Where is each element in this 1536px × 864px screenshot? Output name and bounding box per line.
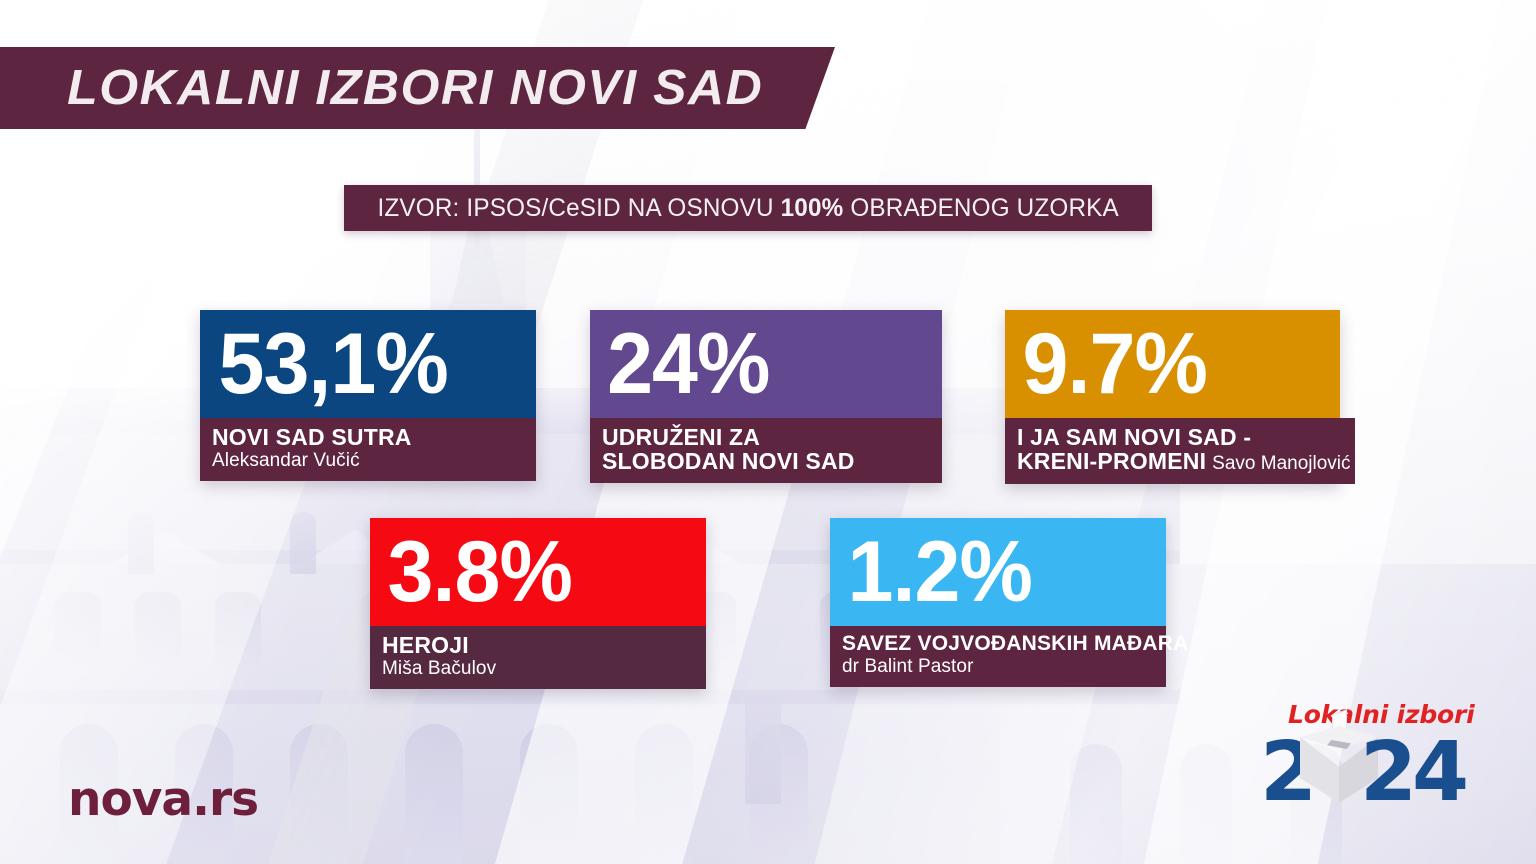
- percent-value: 1.2%: [834, 529, 1032, 615]
- party-name-line2: KRENI-PROMENISavo Manojlović: [1017, 449, 1343, 474]
- percent-value: 9.7%: [1009, 321, 1207, 407]
- percent-panel: 53,1%: [200, 310, 536, 418]
- result-card[interactable]: 53,1% NOVI SAD SUTRA Aleksandar Vučić: [200, 310, 536, 481]
- party-label-bar: SAVEZ VOJVOĐANSKIH MAĐARA dr Balint Past…: [830, 626, 1166, 687]
- percent-panel: 9.7%: [1005, 310, 1340, 418]
- candidate-name: Aleksandar Vučić: [212, 450, 524, 472]
- percent-panel: 24%: [590, 310, 942, 418]
- party-label-bar: UDRUŽENI ZA SLOBODAN NOVI SAD: [590, 418, 942, 483]
- percent-panel: 1.2%: [830, 518, 1166, 626]
- party-name-line1: UDRUŽENI ZA: [602, 425, 930, 449]
- party-name: HEROJI: [382, 633, 694, 657]
- source-prefix: IZVOR: IPSOS/CeSID NA OSNOVU: [377, 194, 780, 222]
- election-2024-logo[interactable]: Lokalni izbori 2 2 4: [1262, 700, 1482, 810]
- party-name: SAVEZ VOJVOĐANSKIH MAĐARA: [842, 633, 1154, 655]
- foreground-statue: [745, 694, 781, 804]
- year-row: 2 2 4: [1262, 732, 1482, 810]
- candidate-name: dr Balint Pastor: [842, 656, 1154, 678]
- arcade-arch: [1070, 744, 1122, 864]
- result-card[interactable]: 3.8% HEROJI Miša Bačulov: [370, 518, 706, 689]
- nova-rs-logo[interactable]: nova.rs: [68, 772, 258, 827]
- infographic-stage: LOKALNI IZBORI NOVI SAD IZVOR: IPSOS/CeS…: [0, 0, 1536, 864]
- result-card[interactable]: 1.2% SAVEZ VOJVOĐANSKIH MAĐARA dr Balint…: [830, 518, 1166, 687]
- party-label-bar: I JA SAM NOVI SAD - KRENI-PROMENISavo Ma…: [1005, 418, 1355, 484]
- source-highlight: 100%: [781, 194, 844, 222]
- page-title: LOKALNI IZBORI NOVI SAD: [67, 60, 763, 116]
- party-label-bar: NOVI SAD SUTRA Aleksandar Vučić: [200, 418, 536, 481]
- candidate-name: Miša Bačulov: [382, 658, 694, 680]
- percent-panel: 3.8%: [370, 518, 706, 626]
- party-label-bar: HEROJI Miša Bačulov: [370, 626, 706, 689]
- ballot-box-left-face: [1300, 737, 1339, 803]
- party-name: NOVI SAD SUTRA: [212, 425, 524, 449]
- roof-statue: [290, 512, 316, 574]
- percent-value: 24%: [594, 321, 770, 407]
- source-text: IZVOR: IPSOS/CeSID NA OSNOVU 100% OBRAĐE…: [377, 194, 1118, 223]
- arcade-arch: [405, 724, 463, 864]
- result-card[interactable]: 9.7% I JA SAM NOVI SAD - KRENI-PROMENISa…: [1005, 310, 1340, 484]
- result-card[interactable]: 24% UDRUŽENI ZA SLOBODAN NOVI SAD: [590, 310, 942, 483]
- year-digit-4: 4: [1412, 732, 1466, 814]
- source-banner: IZVOR: IPSOS/CeSID NA OSNOVU 100% OBRAĐE…: [344, 185, 1152, 231]
- percent-value: 53,1%: [205, 321, 448, 407]
- party-name-line2-text: KRENI-PROMENI: [1017, 448, 1206, 474]
- party-name-line1: I JA SAM NOVI SAD -: [1017, 425, 1343, 449]
- candidate-name: Savo Manojlović: [1206, 453, 1350, 474]
- title-banner: LOKALNI IZBORI NOVI SAD: [0, 47, 835, 129]
- year-digit-2b: 2: [1360, 732, 1414, 814]
- party-name-line2: SLOBODAN NOVI SAD: [602, 449, 930, 473]
- source-suffix: OBRAĐENOG UZORKA: [843, 194, 1118, 222]
- percent-value: 3.8%: [374, 529, 572, 615]
